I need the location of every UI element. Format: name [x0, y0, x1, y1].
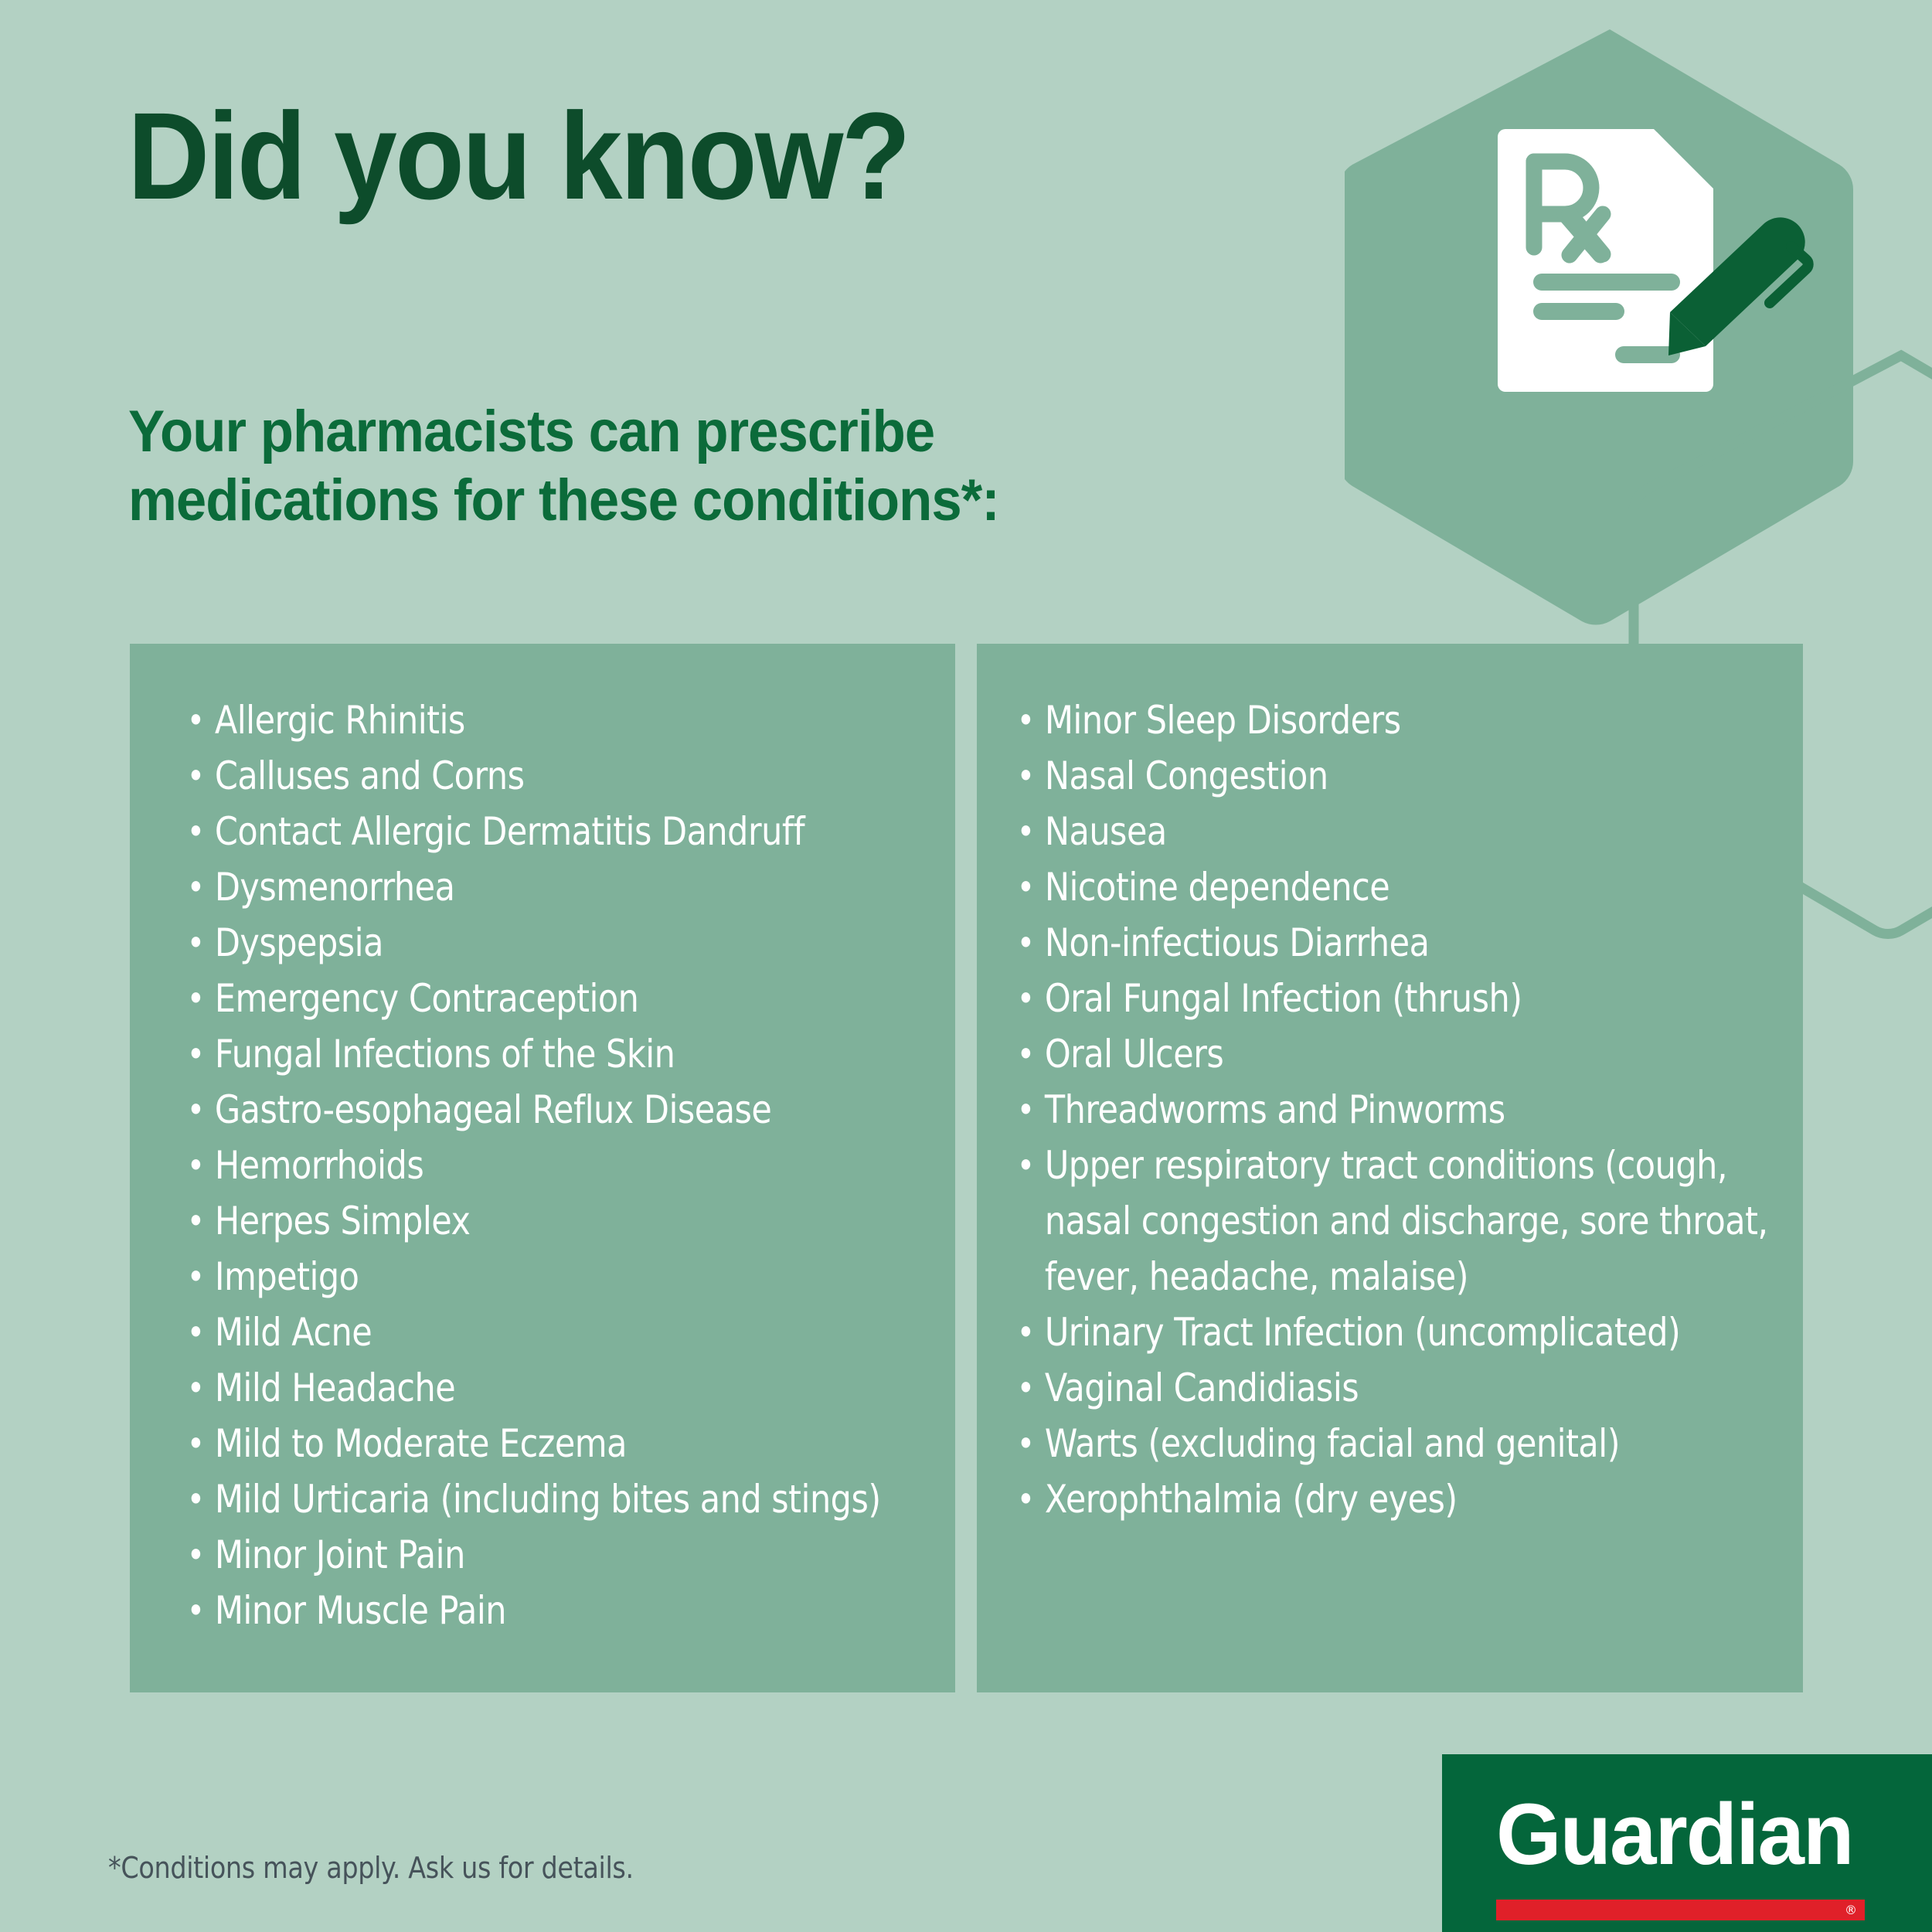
condition-list-item: Oral Ulcers: [1015, 1026, 1823, 1082]
condition-list-item: Emergency Contraception: [185, 971, 978, 1026]
condition-list-item: Dysmenorrhea: [185, 859, 978, 915]
condition-list-item: Minor Joint Pain: [185, 1527, 978, 1583]
condition-list-item: Minor Muscle Pain: [185, 1583, 978, 1638]
condition-list-item: Calluses and Corns: [185, 748, 978, 804]
condition-list-item: Nicotine dependence: [1015, 859, 1823, 915]
registered-trademark-icon: ®: [1845, 1901, 1857, 1919]
condition-list-item: Upper respiratory tract conditions (coug…: [1015, 1138, 1823, 1304]
condition-list-item: Vaginal Candidiasis: [1015, 1360, 1823, 1416]
subheading: Your pharmacists can prescribe medicatio…: [128, 398, 999, 536]
condition-list-item: Mild to Moderate Eczema: [185, 1416, 978, 1471]
condition-list-item: Non-infectious Diarrhea: [1015, 915, 1823, 971]
prescription-document-icon: [1498, 129, 1713, 392]
conditions-list-right: Minor Sleep DisordersNasal CongestionNau…: [1015, 692, 1796, 1527]
condition-list-item: Warts (excluding facial and genital): [1015, 1416, 1823, 1471]
condition-list-item: Urinary Tract Infection (uncomplicated): [1015, 1304, 1823, 1360]
condition-list-item: Oral Fungal Infection (thrush): [1015, 971, 1823, 1026]
brand-wordmark: Guardian: [1496, 1791, 1852, 1878]
condition-list-item: Nausea: [1015, 804, 1823, 859]
condition-list-item: Mild Headache: [185, 1360, 978, 1416]
condition-list-item: Xerophthalmia (dry eyes): [1015, 1471, 1823, 1527]
subheading-line-1: Your pharmacists can prescribe: [128, 398, 999, 467]
condition-list-item: Allergic Rhinitis: [185, 692, 978, 748]
condition-list-item: Impetigo: [185, 1249, 978, 1304]
footnote-disclaimer: *Conditions may apply. Ask us for detail…: [108, 1851, 634, 1885]
condition-list-item: Hemorrhoids: [185, 1138, 978, 1193]
condition-list-item: Mild Urticaria (including bites and stin…: [185, 1471, 978, 1527]
condition-list-item: Dyspepsia: [185, 915, 978, 971]
poster-canvas: Did you know? Your pharmacists can presc…: [0, 0, 1932, 1932]
condition-list-item: Minor Sleep Disorders: [1015, 692, 1823, 748]
condition-list-item: Fungal Infections of the Skin: [185, 1026, 978, 1082]
condition-list-item: Herpes Simplex: [185, 1193, 978, 1249]
condition-list-item: Mild Acne: [185, 1304, 978, 1360]
subheading-line-2: medications for these conditions*:: [128, 467, 999, 536]
condition-list-item: Gastro-esophageal Reflux Disease: [185, 1082, 978, 1138]
brand-underline-bar: ®: [1496, 1900, 1865, 1920]
condition-list-item: Threadworms and Pinworms: [1015, 1082, 1823, 1138]
conditions-list-left: Allergic RhinitisCalluses and CornsConta…: [185, 692, 951, 1638]
conditions-panel-left: Allergic RhinitisCalluses and CornsConta…: [130, 644, 955, 1692]
condition-list-item: Nasal Congestion: [1015, 748, 1823, 804]
conditions-panel-right: Minor Sleep DisordersNasal CongestionNau…: [977, 644, 1803, 1692]
guardian-logo: Guardian ®: [1442, 1754, 1932, 1932]
pencil-icon: [1668, 217, 1808, 355]
hexagon-shape: [1345, 29, 1853, 625]
page-title: Did you know?: [128, 94, 909, 218]
condition-list-item: Contact Allergic Dermatitis Dandruff: [185, 804, 978, 859]
